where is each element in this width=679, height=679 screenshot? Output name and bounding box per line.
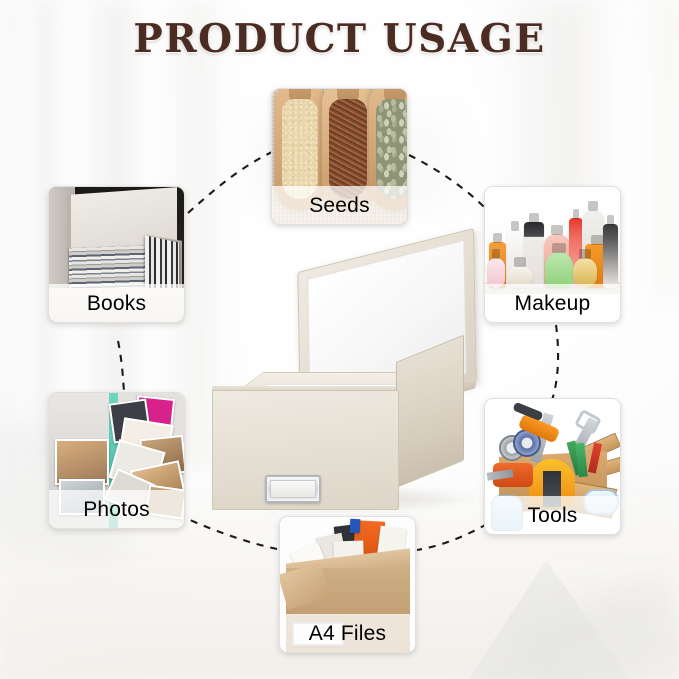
product-storage-box	[200, 252, 490, 512]
box-side-panel	[396, 335, 464, 488]
infographic-canvas: PRODUCT USAGE Seeds	[0, 0, 679, 679]
usage-card-makeup[interactable]: Makeup	[484, 186, 621, 323]
usage-card-books[interactable]: Books	[48, 186, 185, 323]
usage-label-files: A4 Files	[309, 623, 386, 644]
metal-label-holder	[265, 475, 321, 503]
box-body	[212, 372, 462, 510]
books-label-strip: Books	[49, 284, 184, 322]
tools-label-strip: Tools	[485, 496, 620, 534]
makeup-label-strip: Makeup	[485, 284, 620, 322]
usage-card-files[interactable]: A4 Files	[279, 516, 416, 653]
usage-card-seeds[interactable]: Seeds	[271, 88, 408, 225]
files-label-strip: A4 Files	[280, 614, 415, 652]
usage-label-seeds: Seeds	[309, 195, 370, 216]
page-title: PRODUCT USAGE	[0, 20, 679, 59]
usage-label-photos: Photos	[83, 499, 150, 520]
seeds-label-strip: Seeds	[272, 186, 407, 224]
usage-card-tools[interactable]: Tools	[484, 398, 621, 535]
usage-card-photos[interactable]: Photos	[48, 392, 185, 529]
photos-label-strip: Photos	[49, 490, 184, 528]
usage-label-tools: Tools	[527, 505, 577, 526]
usage-label-makeup: Makeup	[515, 293, 591, 314]
box-front-panel	[212, 390, 399, 510]
usage-label-books: Books	[87, 293, 146, 314]
